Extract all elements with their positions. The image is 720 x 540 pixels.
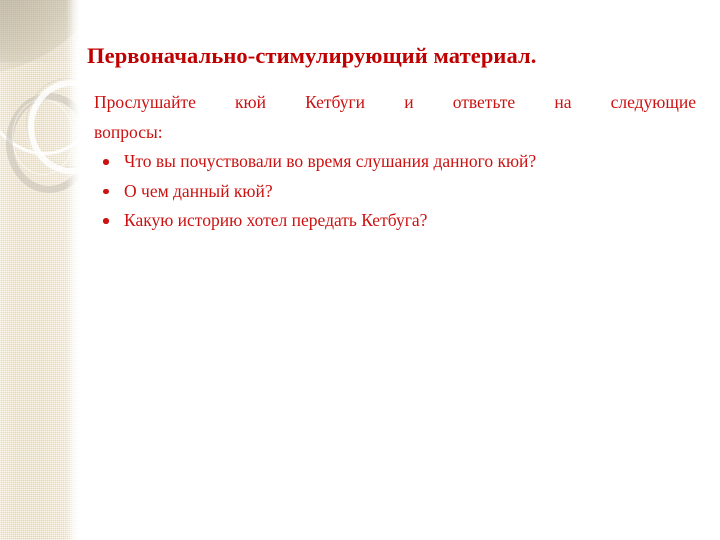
sidebar-edge-fade [66,0,80,540]
intro-line-2: вопросы: [94,118,696,148]
bullet-dot-icon [103,218,109,224]
question-text: Какую историю хотел передать Кетбуга? [124,210,427,230]
page-title: Первоначально-стимулирующий материал. [87,43,707,69]
slide-content: Первоначально-стимулирующий материал. Пр… [80,0,720,540]
slide-body: Прослушайте кюй Кетбуги и ответьте на сл… [94,88,696,236]
question-text: О чем данный кюй? [124,181,273,201]
slide-canvas: Первоначально-стимулирующий материал. Пр… [0,0,720,540]
intro-paragraph: Прослушайте кюй Кетбуги и ответьте на сл… [94,88,696,147]
intro-line-1: Прослушайте кюй Кетбуги и ответьте на сл… [94,88,696,118]
question-text: Что вы почуствовали во время слушания да… [124,151,536,171]
bullet-dot-icon [103,159,109,165]
list-item: Какую историю хотел передать Кетбуга? [94,206,696,236]
list-item: Что вы почуствовали во время слушания да… [94,147,696,177]
decorative-sidebar-band [0,0,80,540]
bullet-dot-icon [103,189,109,195]
list-item: О чем данный кюй? [94,177,696,207]
question-list: Что вы почуствовали во время слушания да… [94,147,696,236]
